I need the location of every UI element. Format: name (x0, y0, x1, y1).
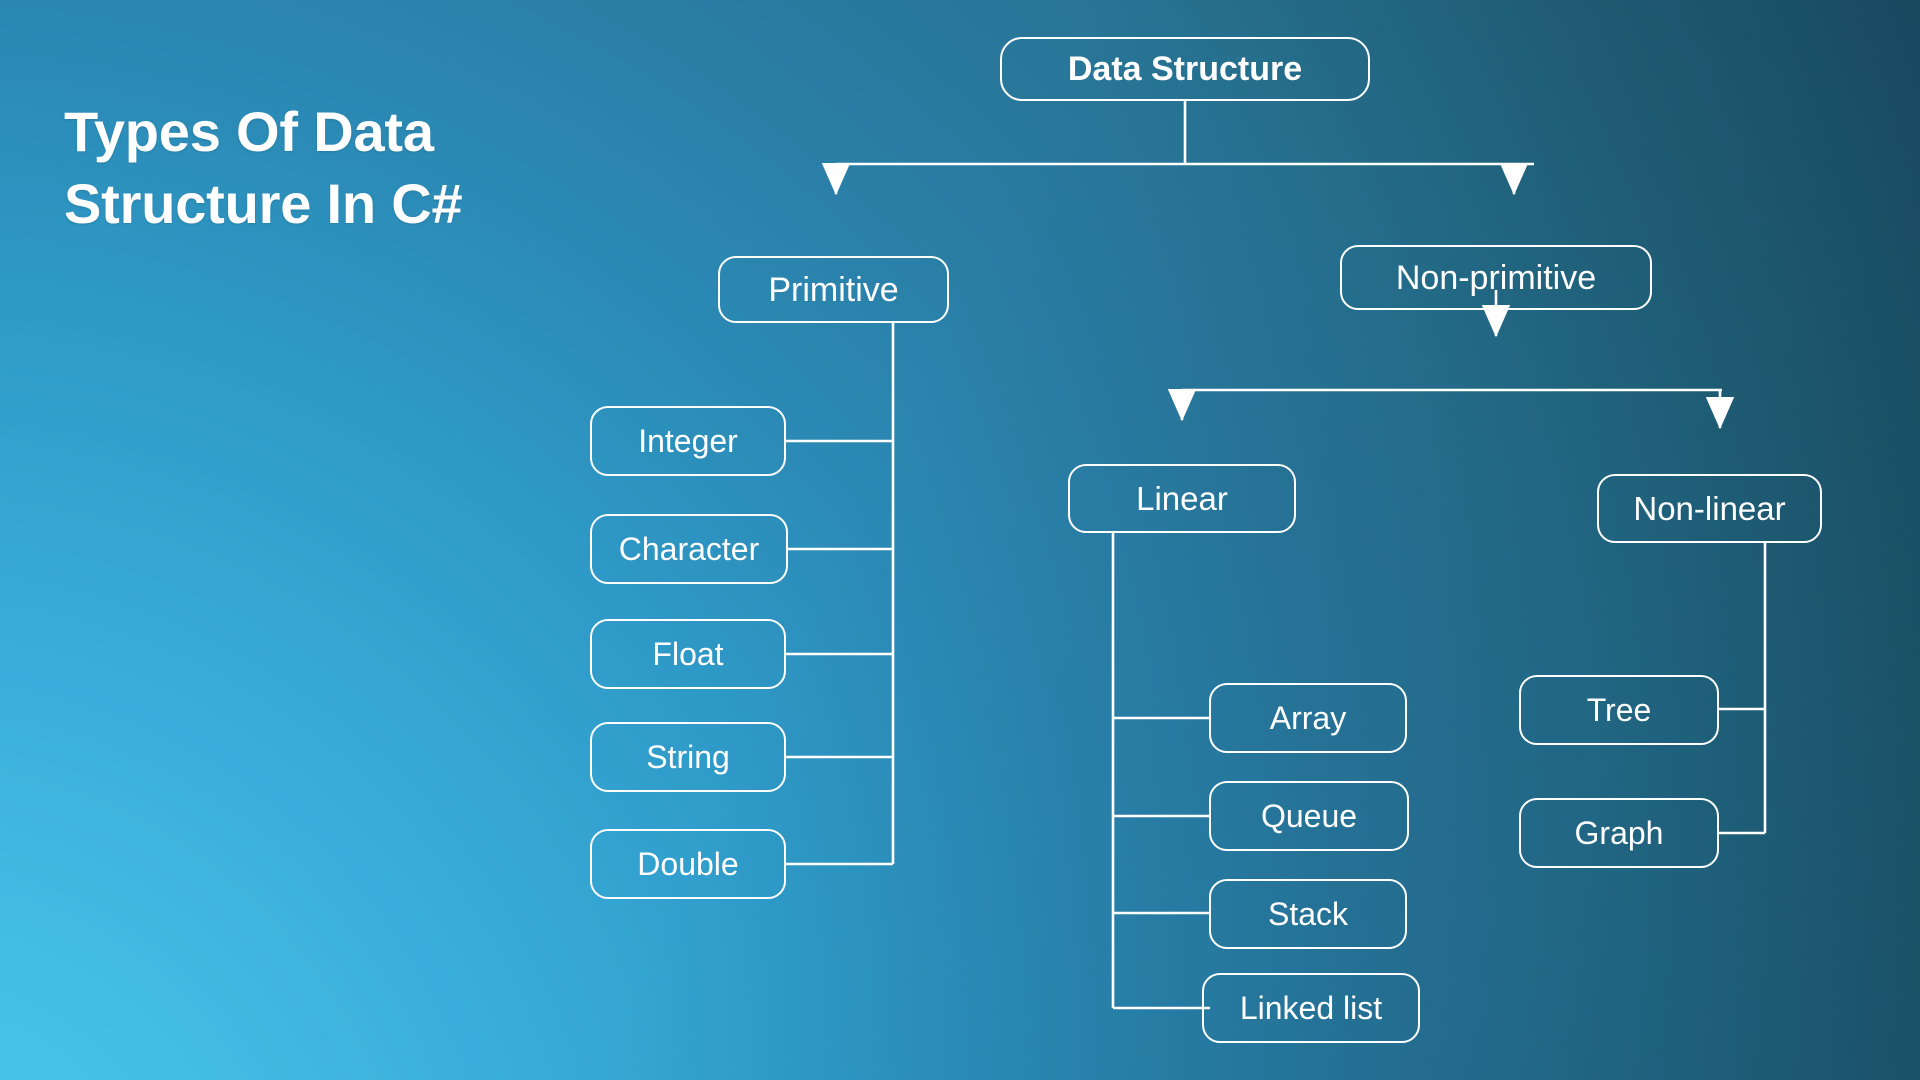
slide-canvas: Types Of Data Structure In C# Data Struc… (0, 0, 1920, 1080)
node-linked-list[interactable]: Linked list (1202, 973, 1420, 1043)
node-integer[interactable]: Integer (590, 406, 786, 476)
node-array[interactable]: Array (1209, 683, 1407, 753)
node-stack[interactable]: Stack (1209, 879, 1407, 949)
node-primitive[interactable]: Primitive (718, 256, 949, 323)
node-non-linear[interactable]: Non-linear (1597, 474, 1822, 543)
page-title-line-2: Structure In C# (64, 168, 704, 240)
node-double[interactable]: Double (590, 829, 786, 899)
node-character[interactable]: Character (590, 514, 788, 584)
node-graph[interactable]: Graph (1519, 798, 1719, 868)
node-queue[interactable]: Queue (1209, 781, 1409, 851)
node-data-structure[interactable]: Data Structure (1000, 37, 1370, 101)
node-tree[interactable]: Tree (1519, 675, 1719, 745)
node-float[interactable]: Float (590, 619, 786, 689)
node-string[interactable]: String (590, 722, 786, 792)
node-linear[interactable]: Linear (1068, 464, 1296, 533)
page-title-line-1: Types Of Data (64, 96, 704, 168)
page-title: Types Of Data Structure In C# (64, 96, 704, 239)
node-non-primitive[interactable]: Non-primitive (1340, 245, 1652, 310)
